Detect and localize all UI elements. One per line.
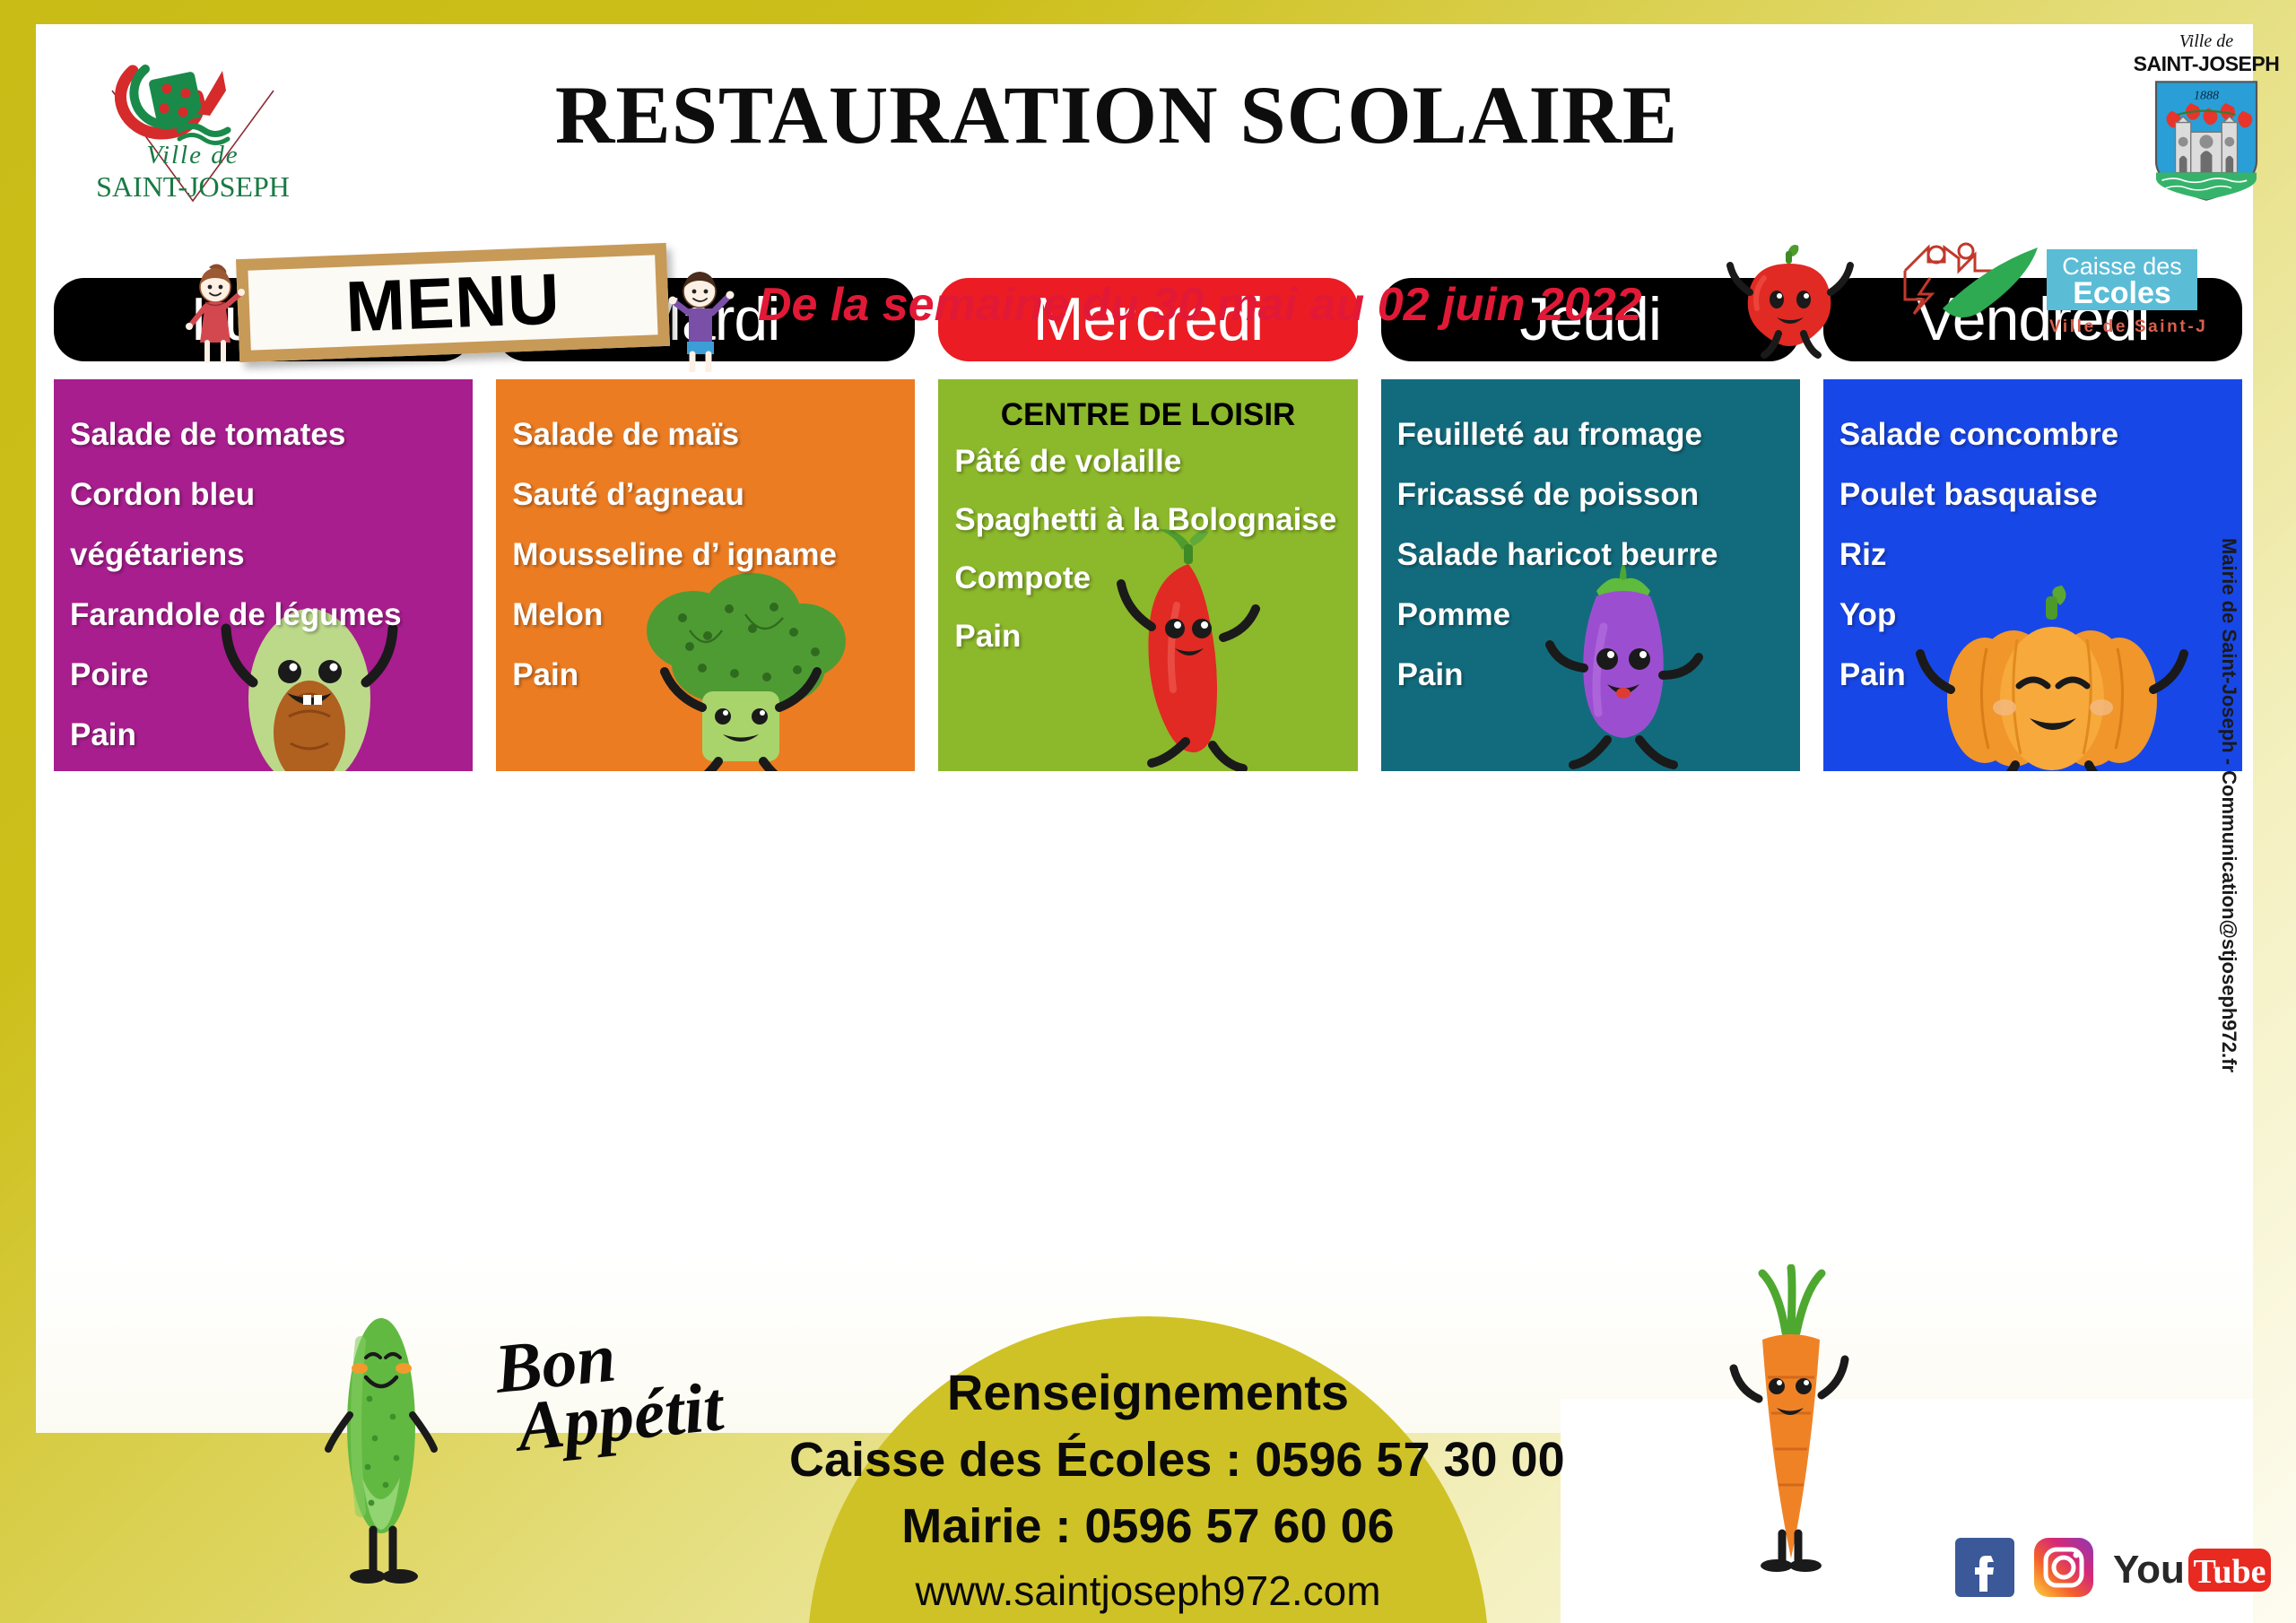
saint-joseph-crest-logo: Ville de SAINT-JOSEPH 1888 [2126, 31, 2287, 202]
menu-item: Riz [1839, 539, 2226, 570]
social-media-links: You Tube [1955, 1538, 2271, 1601]
menu-board: MENU [236, 243, 670, 362]
menu-item: végétariens [70, 539, 457, 570]
crest-year: 1888 [2194, 90, 2219, 103]
caisse-logo-graphic: Caisse des Ecoles Ville de Saint-Joseph [1892, 235, 2206, 338]
menu-item: Yop [1839, 599, 2226, 630]
youtube-glyph: You Tube [2113, 1543, 2271, 1597]
cucumber-mascot [323, 1291, 439, 1587]
menu-item: Sauté d’agneau [512, 479, 899, 510]
day-body-jeudi: Feuilleté au fromage Fricassé de poisson… [1381, 379, 1800, 771]
svg-text:You: You [2113, 1548, 2185, 1592]
boy-child-icon [664, 265, 749, 372]
day-column-mercredi: Mercredi CENTRE DE LOISIR Pâté de volail… [938, 278, 1357, 771]
menu-item: Pain [954, 621, 1341, 652]
menu-item: Compote [954, 562, 1341, 594]
info-website[interactable]: www.saintjoseph972.com [789, 1567, 1507, 1615]
centre-de-loisir-subheader: CENTRE DE LOISIR [954, 397, 1341, 433]
youtube-icon[interactable]: You Tube [2113, 1543, 2271, 1597]
caisse-line3: Ville de Saint-Joseph [2049, 317, 2206, 336]
day-body-vendredi: Salade concombre Poulet basquaise Riz Yo… [1823, 379, 2242, 771]
menu-item: Pain [1397, 659, 1784, 690]
instagram-glyph [2034, 1538, 2093, 1597]
day-body-mardi: Salade de maïs Sauté d’agneau Mousseline… [496, 379, 915, 771]
contact-info-block: Renseignements Caisse des Écoles : 0596 … [789, 1363, 1507, 1615]
day-body-lundi: Salade de tomates Cordon bleu végétarien… [54, 379, 473, 771]
svg-text:Tube: Tube [2194, 1553, 2266, 1591]
boy-child-illustration [664, 265, 749, 372]
cucumber-icon [323, 1291, 439, 1587]
menu-item: Poulet basquaise [1839, 479, 2226, 510]
menu-item: Cordon bleu [70, 479, 457, 510]
facebook-glyph [1955, 1538, 2014, 1597]
caisse-des-ecoles-logo: Caisse des Ecoles Ville de Saint-Joseph [1892, 235, 2206, 338]
ville-logo-line2: SAINT-JOSEPH [90, 170, 296, 204]
menu-item: Salade concombre [1839, 419, 2226, 450]
menu-item: Pâté de volaille [954, 446, 1341, 477]
menu-item: Farandole de légumes [70, 599, 457, 630]
menu-item: Salade de maïs [512, 419, 899, 450]
page-title: RESTAURATION SCOLAIRE [332, 67, 1901, 162]
menu-poster: Ville de SAINT-JOSEPH RESTAURATION SCOLA… [0, 0, 2296, 1623]
facebook-icon[interactable] [1955, 1538, 2014, 1601]
ville-saint-joseph-logo: Ville de SAINT-JOSEPH [90, 44, 296, 205]
crest-line2: SAINT-JOSEPH [2126, 52, 2287, 76]
girl-child-icon [175, 260, 256, 363]
carrot-icon [1726, 1264, 1852, 1578]
menu-item: Pain [512, 659, 899, 690]
side-credit-text: Mairie de Saint-Joseph - Communication@s… [2217, 538, 2240, 1094]
menu-item: Melon [512, 599, 899, 630]
girl-child-illustration [175, 260, 256, 363]
info-title: Renseignements [789, 1363, 1507, 1421]
info-caisse-phone: Caisse des Écoles : 0596 57 30 00 [789, 1432, 1507, 1488]
bell-pepper-mascot [1726, 240, 1857, 361]
caisse-line2: Ecoles [2073, 276, 2171, 310]
menu-item: Pain [1839, 659, 2226, 690]
carrot-mascot [1726, 1264, 1852, 1578]
info-mairie-phone: Mairie : 0596 57 60 06 [789, 1498, 1507, 1554]
menu-board-label: MENU [344, 257, 562, 348]
crest-shield-icon: 1888 [2139, 78, 2274, 204]
bon-appetit-line2: Appétit [515, 1376, 726, 1457]
menu-item: Pain [70, 719, 457, 751]
crest-line1: Ville de [2126, 31, 2287, 52]
menu-item: Pomme [1397, 599, 1784, 630]
menu-item: Poire [70, 659, 457, 690]
menu-item: Feuilleté au fromage [1397, 419, 1784, 450]
menu-item: Salade haricot beurre [1397, 539, 1784, 570]
day-column-vendredi: Vendredi Salade concombre Poulet basquai… [1823, 278, 2242, 771]
menu-item: Mousseline d’ igname [512, 539, 899, 570]
menu-item: Salade de tomates [70, 419, 457, 450]
ville-logo-line1: Ville de [90, 141, 296, 170]
instagram-icon[interactable] [2034, 1538, 2093, 1601]
bell-pepper-icon [1726, 240, 1857, 361]
day-body-mercredi: CENTRE DE LOISIR Pâté de volaille Spaghe… [938, 379, 1357, 771]
menu-item: Fricassé de poisson [1397, 479, 1784, 510]
menu-item: Spaghetti à la Bolognaise [954, 504, 1341, 535]
bon-appetit-text: Bon Appétit [492, 1315, 726, 1458]
header-panel: Ville de SAINT-JOSEPH RESTAURATION SCOLA… [36, 24, 2253, 220]
